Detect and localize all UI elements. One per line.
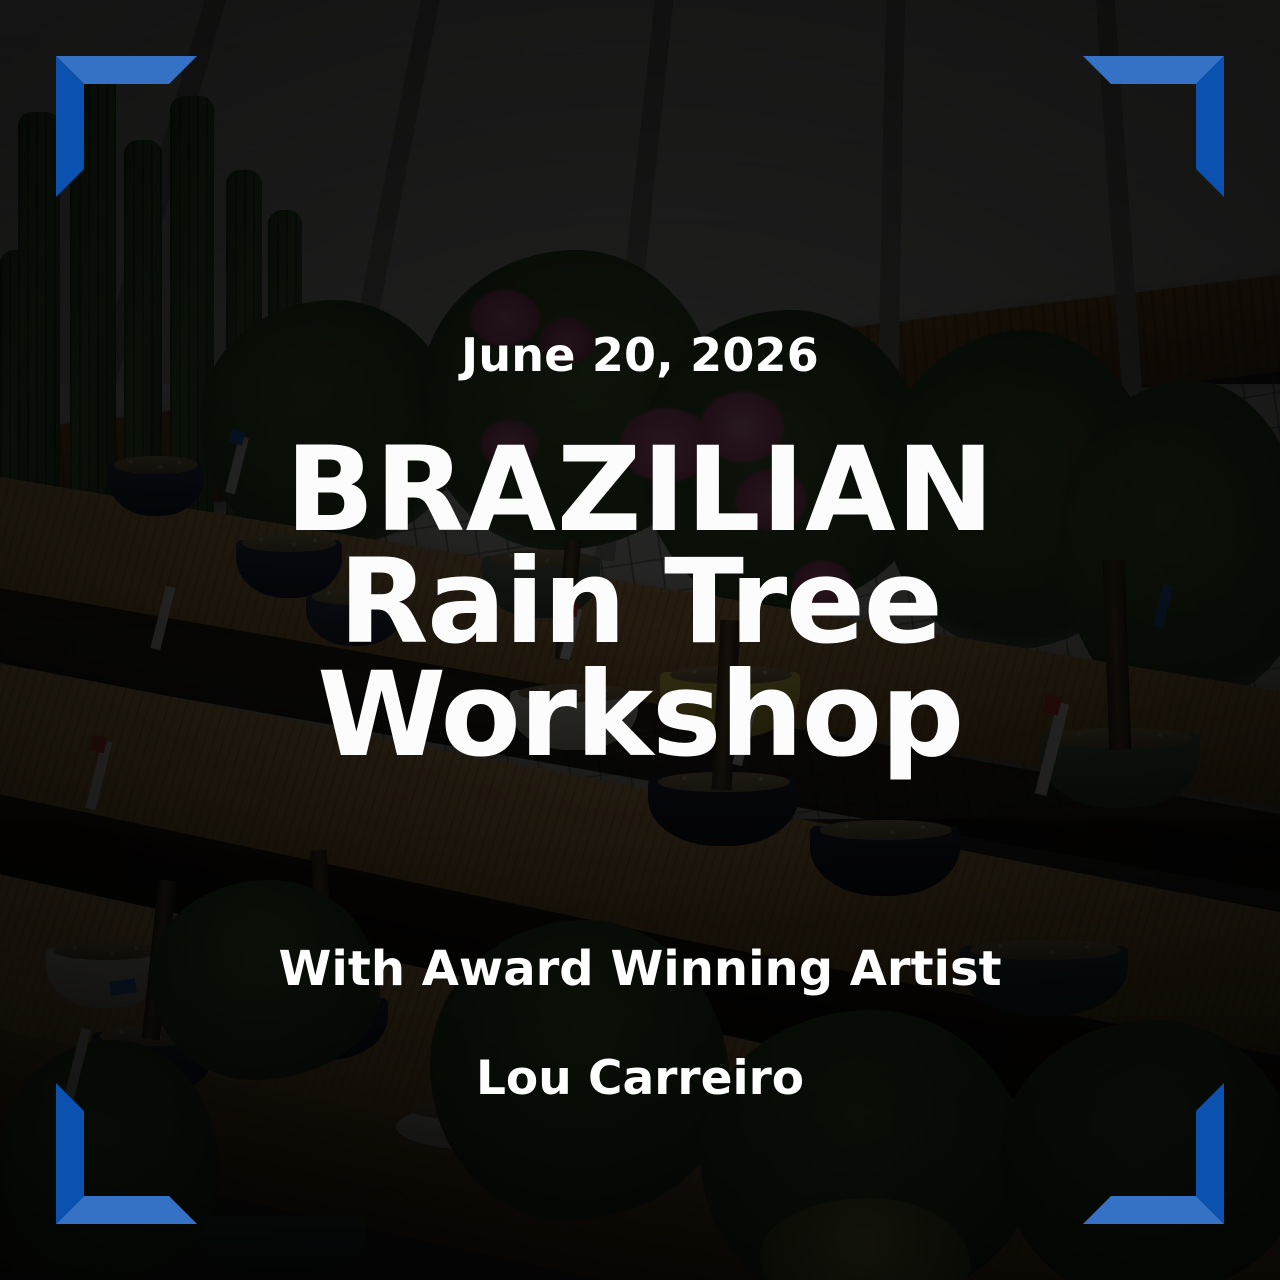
event-date: June 20, 2026 <box>461 332 819 378</box>
event-poster: June 20, 2026 BRAZILIAN Rain Tree Worksh… <box>0 0 1280 1280</box>
title-line-3: Workshop <box>285 659 994 771</box>
poster-text-stack: June 20, 2026 BRAZILIAN Rain Tree Worksh… <box>0 0 1280 1280</box>
title-line-1: BRAZILIAN <box>285 434 994 546</box>
page-title: BRAZILIAN Rain Tree Workshop <box>285 434 994 771</box>
title-line-2: Rain Tree <box>285 546 994 658</box>
presenter-name: Lou Carreiro <box>476 1055 804 1102</box>
presenter-prefix: With Award Winning Artist <box>278 945 1001 993</box>
